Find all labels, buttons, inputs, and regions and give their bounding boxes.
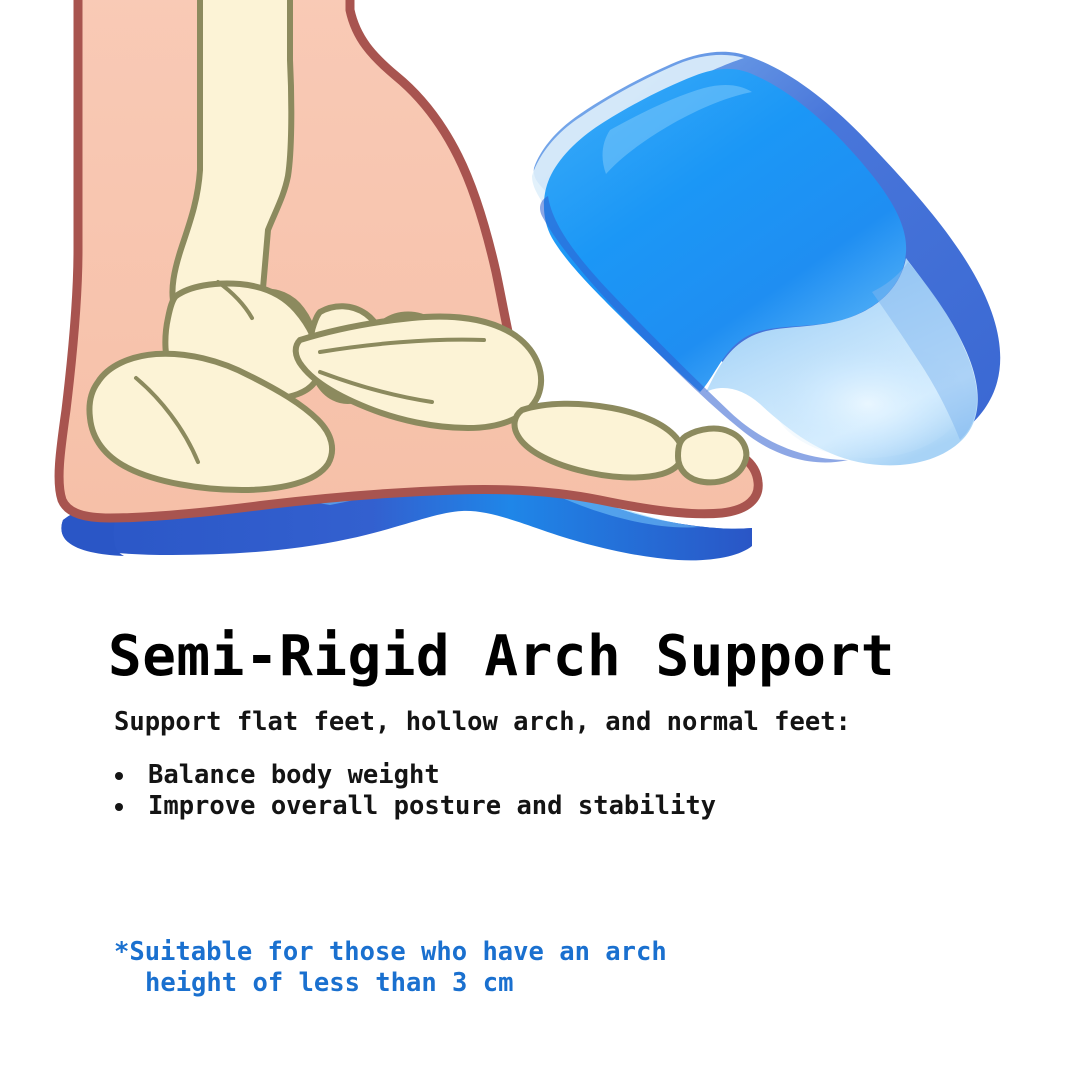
page-title: Semi-Rigid Arch Support: [108, 622, 895, 692]
distal-phalanx-bone: [678, 429, 746, 483]
three-quarter-length-gel-insole: [532, 52, 1000, 466]
benefit-list: Balance body weight Improve overall post…: [112, 760, 716, 822]
footnote-line-1: *Suitable for those who have an arch: [114, 937, 667, 967]
benefit-label: Improve overall posture and stability: [148, 791, 716, 821]
benefit-label: Balance body weight: [148, 760, 440, 790]
list-item: Improve overall posture and stability: [112, 791, 716, 822]
list-item: Balance body weight: [112, 760, 716, 791]
footnote-line-2: height of less than 3 cm: [114, 968, 667, 999]
footnote-note: *Suitable for those who have an arch hei…: [114, 937, 667, 999]
product-text-block: Semi-Rigid Arch Support Support flat fee…: [0, 600, 1080, 1080]
bullet-dot-icon: [115, 772, 123, 780]
bullet-dot-icon: [115, 803, 123, 811]
subtitle-text: Support flat feet, hollow arch, and norm…: [114, 705, 851, 739]
illustration-canvas: [0, 0, 1080, 600]
product-info-card: Semi-Rigid Arch Support Support flat fee…: [0, 0, 1080, 1080]
foot-anatomy-illustration: [0, 0, 1080, 600]
